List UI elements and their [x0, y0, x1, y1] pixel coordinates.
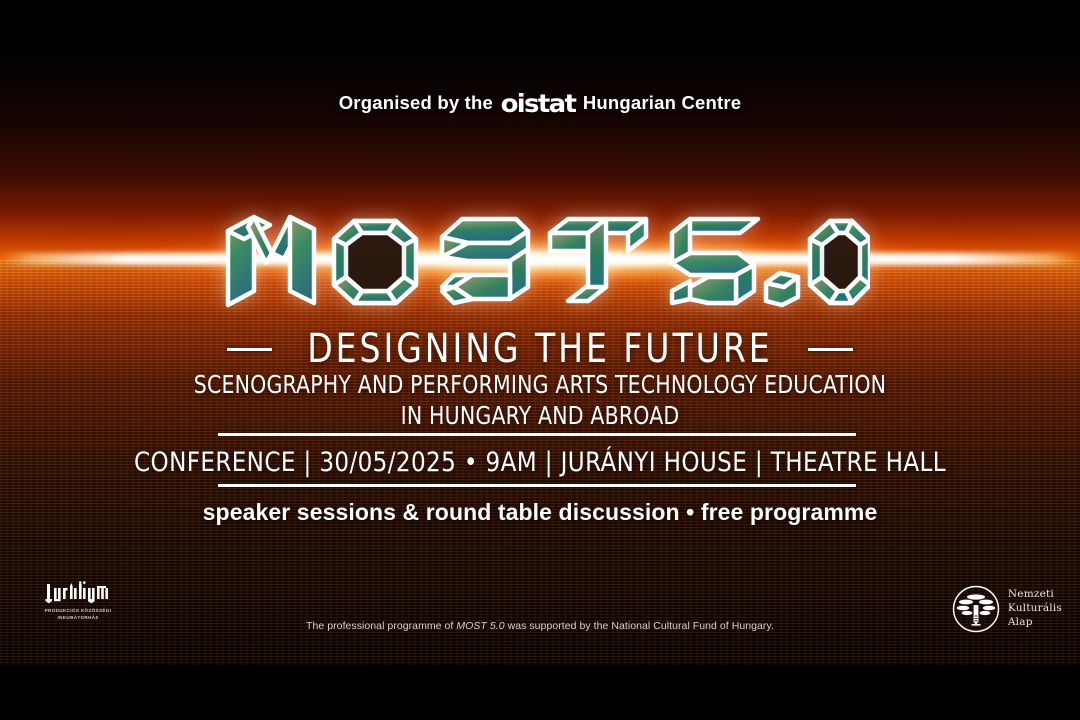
- poster-title: [0, 186, 1080, 316]
- support-note: The professional programme of MOST 5.0 w…: [0, 620, 1080, 632]
- poster-content: Organised by the oistat Hungarian Centre: [0, 0, 1080, 720]
- divider-rule-bottom: [218, 484, 856, 487]
- juranyi-wordmark-icon: [45, 581, 111, 605]
- subtitle-line-1: SCENOGRAPHY AND PERFORMING ARTS TECHNOLO…: [38, 370, 1042, 401]
- juranyi-logo: PRODUKCIÓS KÖZÖSSÉGI INKUBÁTORHÁZ: [36, 581, 120, 621]
- title-letter-5: [672, 219, 758, 303]
- tagline-text: DESIGNING THE FUTURE: [307, 326, 772, 372]
- support-note-italic: MOST 5.0: [456, 620, 504, 632]
- letterbox-bar-top: [0, 0, 1080, 35]
- conference-details: CONFERENCE | 30/05/2025 • 9AM | JURÁNYI …: [27, 447, 1053, 478]
- organiser-suffix: Hungarian Centre: [583, 92, 741, 114]
- poster-canvas: Organised by the oistat Hungarian Centre: [0, 0, 1080, 720]
- nka-tree-emblem-icon: [952, 585, 1000, 633]
- organiser-prefix: Organised by the: [339, 92, 493, 114]
- title-letter-T: [550, 219, 646, 301]
- programme-details: speaker sessions & round table discussio…: [0, 499, 1080, 526]
- title-3d-lettering: [210, 187, 870, 315]
- juranyi-tagline: PRODUKCIÓS KÖZÖSSÉGI INKUBÁTORHÁZ: [36, 608, 120, 621]
- title-letter-0: [810, 221, 870, 303]
- oistat-wordmark-icon: oistat: [501, 89, 576, 118]
- organiser-line: Organised by the oistat Hungarian Centre: [0, 88, 1080, 117]
- subtitle-line-2: IN HUNGARY AND ABROAD: [38, 401, 1042, 432]
- support-note-after: was supported by the National Cultural F…: [505, 620, 774, 632]
- divider-rule-top: [218, 433, 856, 436]
- tagline-row: DESIGNING THE FUTURE: [0, 326, 1080, 372]
- title-letter-M: [228, 217, 314, 305]
- title-letter-O: [334, 221, 416, 303]
- subtitle-block: SCENOGRAPHY AND PERFORMING ARTS TECHNOLO…: [38, 370, 1042, 432]
- letterbox-bar-bottom: [0, 665, 1080, 720]
- title-letter-S: [442, 219, 528, 303]
- nka-name: Nemzeti Kulturális Alap: [1008, 588, 1062, 630]
- support-note-before: The professional programme of: [306, 620, 456, 632]
- tagline-dash-right: [808, 348, 853, 351]
- title-letter-dot: [766, 273, 798, 305]
- nka-logo: Nemzeti Kulturális Alap: [952, 585, 1062, 633]
- tagline-dash-left: [227, 348, 272, 351]
